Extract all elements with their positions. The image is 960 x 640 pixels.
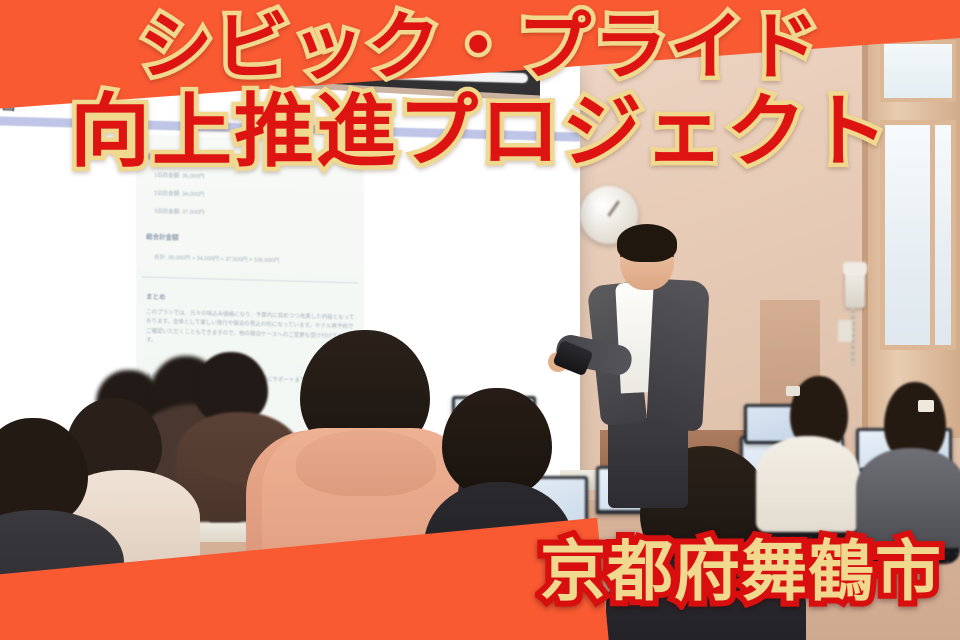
door-frosted-glass (880, 120, 956, 350)
door-mullion (930, 120, 935, 350)
transom-window (880, 40, 956, 102)
answer-heading-1: 新しい推定合計金額 (146, 151, 205, 163)
promo-poster: https://chatgpt.com/c/xxxxxxxx-xxxx-xxxx… (0, 0, 960, 640)
answer-bullet: 3泊目金額: 37,500円 (154, 207, 204, 216)
wall-phone-handset (843, 262, 867, 275)
answer-heading-2: 総合計金額 (146, 231, 179, 242)
answer-bullet: 2泊目金額: 34,000円 (154, 189, 204, 198)
hair-clip (786, 386, 800, 396)
answer-bullet: 1泊目金額: 35,000円 (154, 171, 204, 180)
hoodie-hood (296, 430, 436, 496)
presenter-hair (617, 224, 677, 262)
presenter-jacket-right (646, 279, 710, 432)
city-label: 京都府舞鶴市 (540, 518, 942, 614)
presenter-legs (608, 418, 688, 508)
wall-plate (838, 320, 852, 342)
answer-heading-3: まとめ (146, 291, 166, 302)
hair-clip (918, 400, 934, 412)
foreground-participant-head (442, 388, 552, 496)
